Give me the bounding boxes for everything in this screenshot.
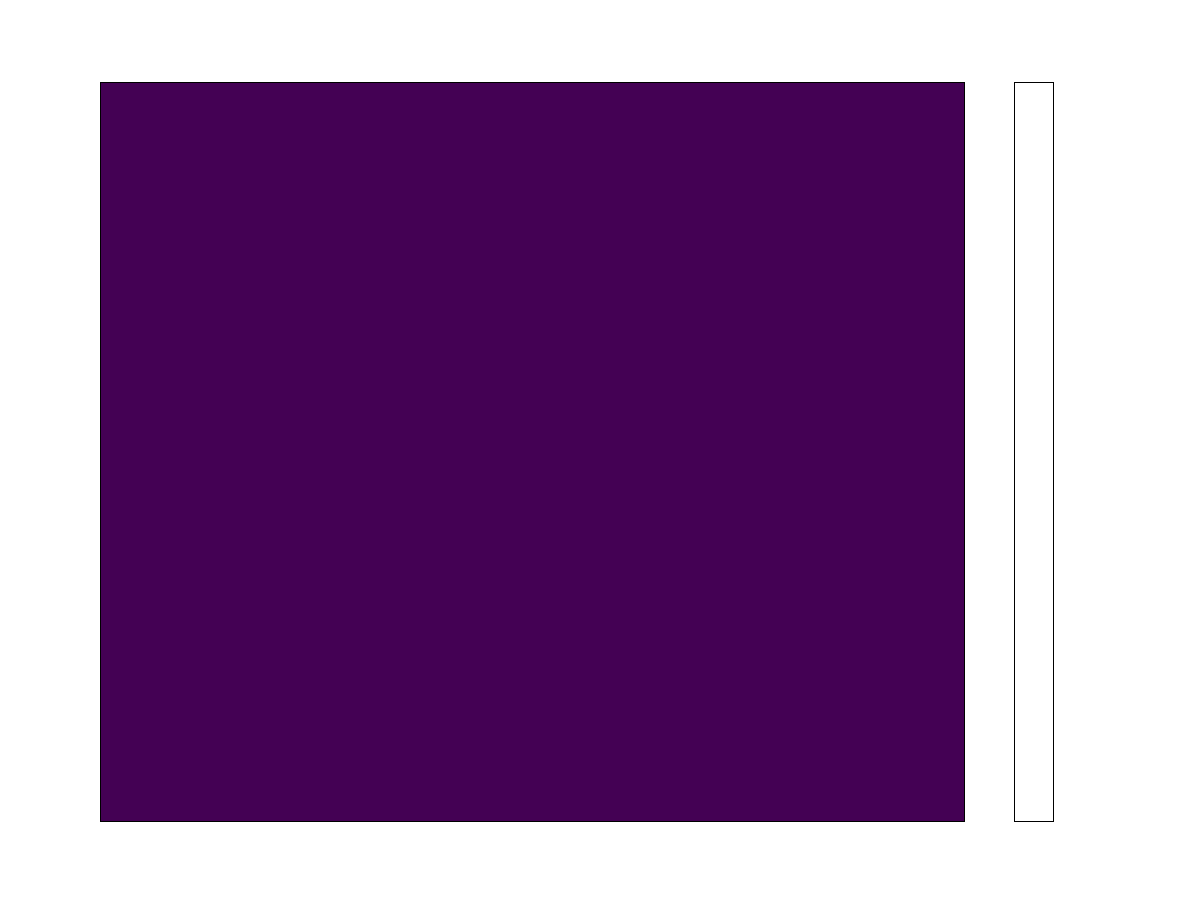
colorbar[interactable] bbox=[1014, 82, 1054, 822]
ionogram-heatmap-canvas[interactable] bbox=[101, 83, 965, 822]
ionogram-figure bbox=[0, 0, 1200, 900]
colorbar-gradient bbox=[1015, 83, 1053, 821]
ionogram-plot-area[interactable] bbox=[100, 82, 965, 822]
